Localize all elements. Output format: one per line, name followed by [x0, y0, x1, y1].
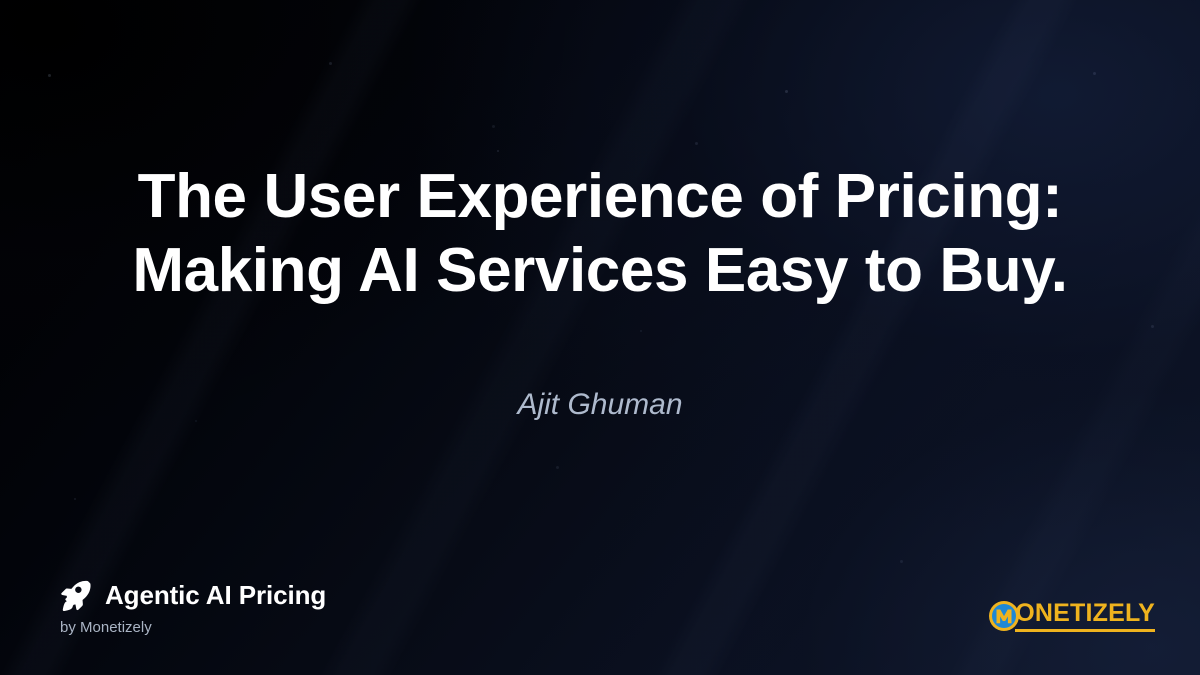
rocket-icon	[58, 578, 92, 612]
monetizely-wordmark: ONETIZELY	[1015, 600, 1155, 632]
brand-block: Agentic AI Pricing by Monetizely	[58, 578, 326, 637]
background-stars	[0, 0, 1200, 675]
brand-tagline: by Monetizely	[60, 619, 326, 637]
brand-row: Agentic AI Pricing	[58, 578, 326, 612]
title-line-1: The User Experience of Pricing:	[40, 160, 1160, 234]
presentation-slide: The User Experience of Pricing: Making A…	[0, 0, 1200, 675]
background-streaks	[0, 0, 1200, 675]
title-line-2: Making AI Services Easy to Buy.	[40, 234, 1160, 308]
brand-name: Agentic AI Pricing	[105, 580, 326, 610]
slide-title: The User Experience of Pricing: Making A…	[0, 160, 1200, 308]
monetizely-logo: ONETIZELY	[988, 600, 1155, 632]
monetizely-logo-mark-icon	[988, 600, 1020, 632]
author-name: Ajit Ghuman	[0, 388, 1200, 422]
